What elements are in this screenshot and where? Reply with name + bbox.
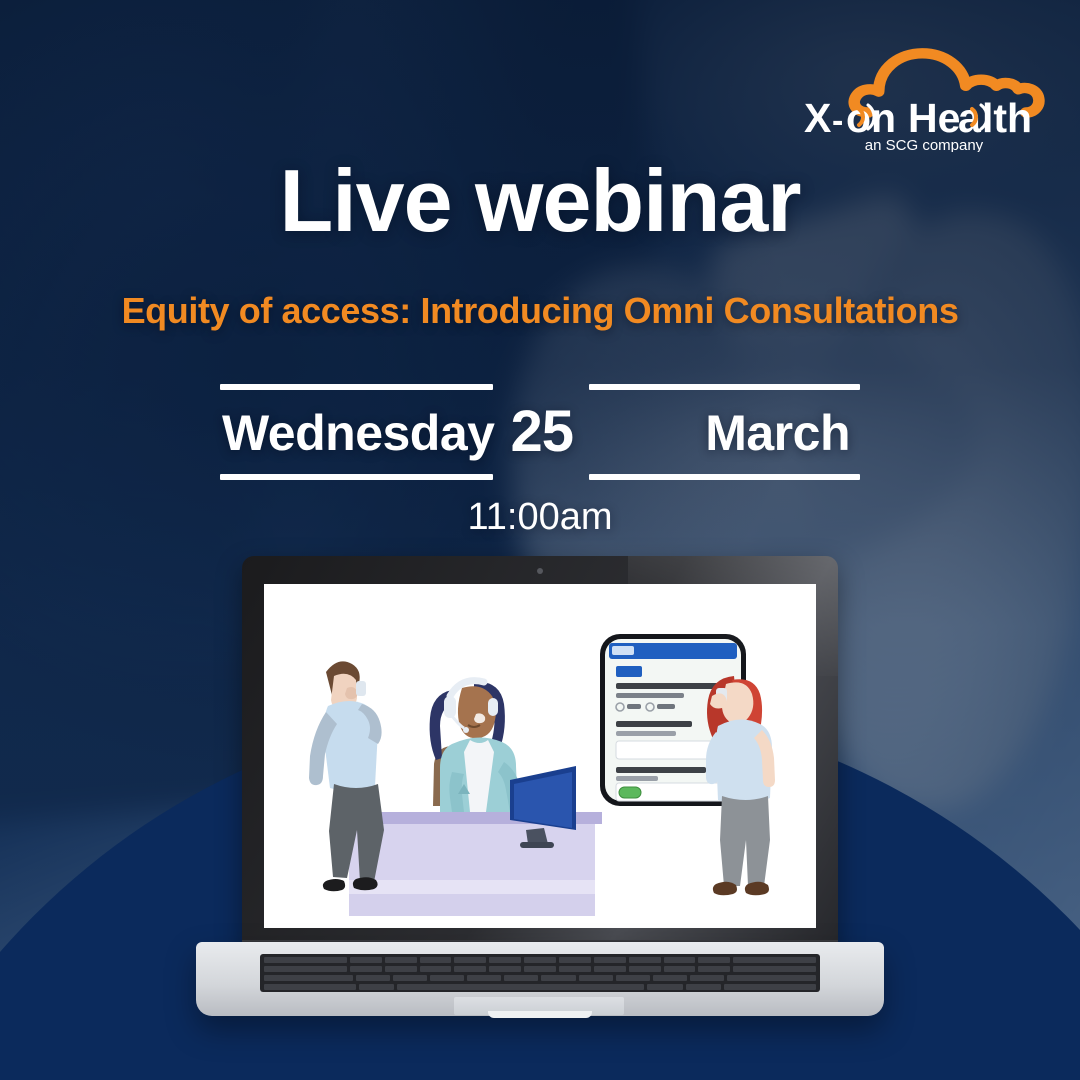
laptop-lid [242, 556, 838, 948]
rule-bottom-left [220, 474, 493, 480]
event-month-group: March [589, 372, 860, 492]
event-day-name-group: Wednesday [220, 372, 494, 492]
logo-tagline: an SCG company [865, 137, 984, 152]
telehealth-illustration [264, 584, 816, 928]
keyboard-row-space [260, 984, 820, 990]
svg-text:X: X [804, 95, 831, 141]
keyboard-row [260, 966, 820, 972]
laptop-keyboard [260, 954, 820, 992]
keyboard-row [260, 957, 820, 963]
person-left-man-on-phone [309, 661, 384, 891]
svg-text:He: He [908, 95, 960, 141]
event-day-name: Wednesday [220, 390, 494, 474]
webinar-promo-graphic: ® X - on He a lth an SCG company X-on He… [0, 0, 1080, 1080]
svg-text:on: on [846, 95, 896, 141]
xon-health-logo: ® X - on He a lth an SCG company X-on He… [796, 28, 1046, 152]
event-date-block: Wednesday 25 March [0, 372, 1080, 492]
keyboard-row [260, 975, 820, 981]
event-time: 11:00am [0, 498, 1080, 536]
page-title: Live webinar [0, 157, 1080, 245]
event-month: March [589, 390, 860, 474]
logo-wordmark: X - on He a lth [804, 95, 1032, 141]
svg-text:-: - [832, 102, 843, 140]
rule-bottom-right [589, 474, 860, 480]
event-day-number: 25 [494, 372, 589, 492]
webcam-icon [537, 568, 543, 574]
laptop-device [196, 556, 884, 1056]
person-centre-agent [430, 681, 524, 812]
svg-text:a: a [958, 95, 982, 141]
page-subtitle: Equity of access: Introducing Omni Consu… [0, 293, 1080, 329]
laptop-screen [264, 584, 816, 928]
svg-text:lth: lth [982, 95, 1032, 141]
laptop-front-notch [488, 1011, 592, 1018]
